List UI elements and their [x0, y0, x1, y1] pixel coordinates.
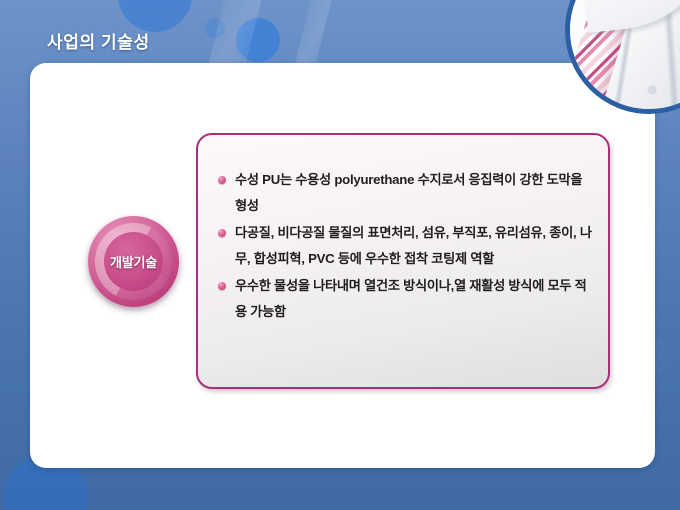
- development-technology-badge: 개발기술: [88, 216, 179, 307]
- list-item: 다공질, 비다공질 물질의 표면처리, 섬유, 부직포, 유리섬유, 종이, 나…: [216, 220, 596, 272]
- presentation-slide: 사업의 기술성 개발기술 수성 PU는 수용성 polyurethane 수지로…: [0, 0, 680, 510]
- list-item: 수성 PU는 수용성 polyurethane 수지로서 응집력이 강한 도막을…: [216, 167, 596, 219]
- bullet-dot-icon: [218, 282, 226, 290]
- list-item: 우수한 물성을 나타내며 열건조 방식이나,열 재활성 방식에 모두 적용 가능…: [216, 273, 596, 325]
- bullet-text: 수성 PU는 수용성 polyurethane 수지로서 응집력이 강한 도막을…: [235, 172, 582, 213]
- background-circle-small: [205, 18, 225, 38]
- bullet-text: 우수한 물성을 나타내며 열건조 방식이나,열 재활성 방식에 모두 적용 가능…: [235, 278, 587, 319]
- slide-title: 사업의 기술성: [47, 28, 150, 53]
- bullet-list: 수성 PU는 수용성 polyurethane 수지로서 응집력이 강한 도막을…: [216, 167, 596, 326]
- bullet-content-box: 수성 PU는 수용성 polyurethane 수지로서 응집력이 강한 도막을…: [196, 133, 610, 389]
- bullet-dot-icon: [218, 229, 226, 237]
- shirt-and-tie-photo: [565, 0, 680, 114]
- background-circle-medium: [236, 18, 280, 62]
- bullet-dot-icon: [218, 176, 226, 184]
- bullet-text: 다공질, 비다공질 물질의 표면처리, 섬유, 부직포, 유리섬유, 종이, 나…: [235, 225, 592, 266]
- badge-label: 개발기술: [88, 216, 179, 307]
